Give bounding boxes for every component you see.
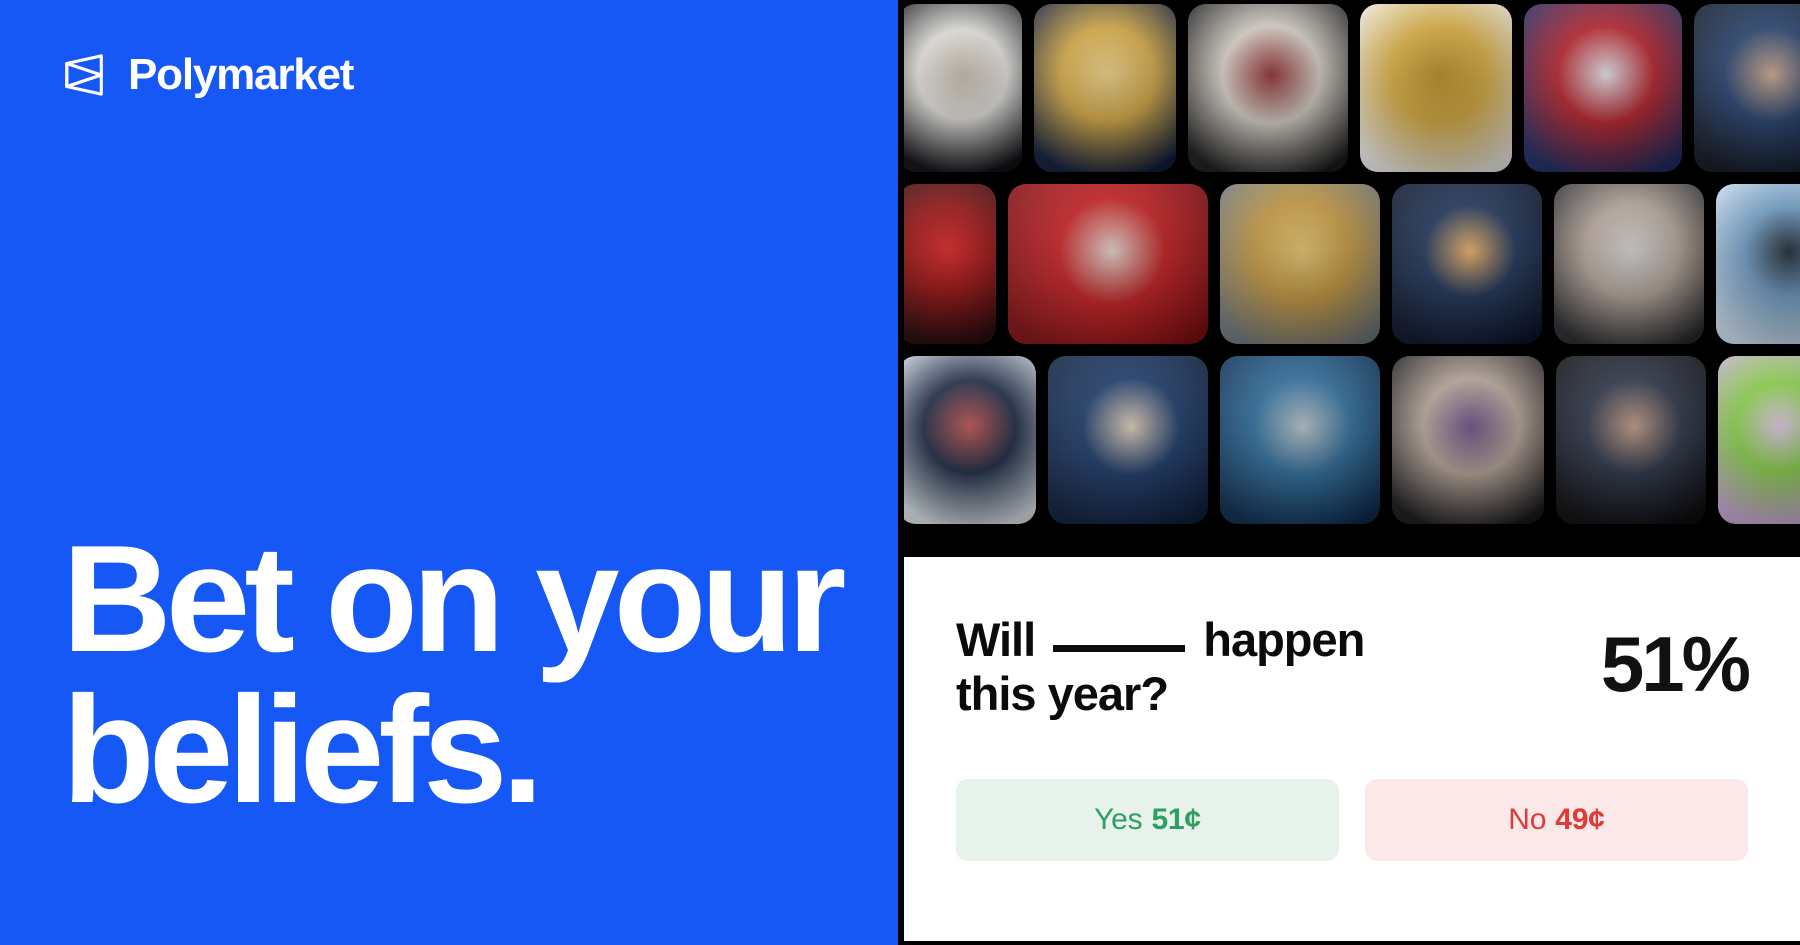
market-image-mosaic	[898, 0, 1800, 557]
elon-musk-portrait-photo	[1556, 356, 1706, 524]
mosaic-row	[898, 356, 1800, 524]
red-press-conference-photo	[898, 184, 996, 344]
vaccine-vials-syringe-photo	[1716, 184, 1800, 344]
market-question-blank	[1053, 618, 1185, 652]
mosaic-tile[interactable]	[1008, 184, 1208, 344]
market-question: Will happen this year?	[956, 613, 1364, 721]
mosaic-tile[interactable]	[1694, 4, 1800, 172]
missiles-night-sky-photo	[1392, 184, 1542, 344]
mosaic-tile[interactable]	[898, 184, 996, 344]
market-question-line-2: this year?	[956, 667, 1168, 720]
kamala-harris-rally-podium-photo	[1524, 4, 1682, 172]
outcome-yes-button[interactable]: Yes51¢	[956, 779, 1339, 861]
mosaic-tile[interactable]	[1556, 356, 1706, 524]
outcome-no-button[interactable]: No49¢	[1365, 779, 1748, 861]
travis-kelce-taylor-swift-photo	[1188, 4, 1348, 172]
hero-headline: Bet on your beliefs.	[62, 524, 882, 825]
polymarket-logo-icon	[62, 52, 108, 98]
mosaic-tile[interactable]	[1554, 184, 1704, 344]
joe-biden-waving-photo	[1694, 4, 1800, 172]
outcome-yes-label: Yes	[1094, 803, 1142, 837]
mosaic-row	[898, 4, 1800, 172]
hero-headline-line-1: Bet on your	[62, 524, 882, 674]
market-card: Will happen this year? 51% Yes51¢No49¢	[904, 557, 1800, 941]
market-question-prefix: Will	[956, 613, 1035, 666]
epstein-files-document-photo	[898, 4, 1022, 172]
mosaic-tile[interactable]	[1392, 184, 1542, 344]
mosaic-tile[interactable]	[898, 356, 1036, 524]
market-card-header: Will happen this year? 51%	[956, 613, 1748, 721]
market-outcome-buttons: Yes51¢No49¢	[956, 779, 1748, 861]
nobel-prize-medal-in-hand-photo	[1220, 184, 1380, 344]
panel-divider	[898, 0, 904, 945]
mosaic-tile[interactable]	[1524, 4, 1682, 172]
market-question-suffix: happen	[1203, 613, 1364, 666]
mosaic-row	[898, 184, 1800, 344]
mosaic-tile[interactable]	[1220, 356, 1380, 524]
mosaic-tile[interactable]	[898, 4, 1022, 172]
bitcoin-gold-coin-photo	[1034, 4, 1176, 172]
papal-conclave-cardinals-photo	[1008, 184, 1208, 344]
trump-harris-debate-handshake-photo	[1048, 356, 1208, 524]
joe-biden-looking-down-photo	[898, 356, 1036, 524]
brand-panel: Polymarket Bet on your beliefs.	[0, 0, 898, 945]
virus-microscopy-photo	[1718, 356, 1800, 524]
mosaic-tile[interactable]	[1392, 356, 1544, 524]
jerome-powell-adjusting-glasses-photo	[1392, 356, 1544, 524]
mosaic-tile[interactable]	[1048, 356, 1208, 524]
marketing-hero-screenshot: Polymarket Bet on your beliefs. Will hap…	[0, 0, 1800, 945]
right-column: Will happen this year? 51% Yes51¢No49¢	[898, 0, 1800, 945]
outcome-no-price: 49¢	[1555, 803, 1604, 837]
market-probability: 51%	[1601, 613, 1748, 703]
mosaic-tile[interactable]	[1034, 4, 1176, 172]
outcome-yes-price: 51¢	[1151, 803, 1200, 837]
nba-championship-trophy-photo	[1360, 4, 1512, 172]
outcome-no-label: No	[1508, 803, 1546, 837]
titan-submersible-underwater-photo	[1220, 356, 1380, 524]
mosaic-tile[interactable]	[1716, 184, 1800, 344]
brand-lockup[interactable]: Polymarket	[62, 52, 353, 98]
mosaic-tile[interactable]	[1220, 184, 1380, 344]
mosaic-tile[interactable]	[1360, 4, 1512, 172]
brand-wordmark: Polymarket	[128, 53, 353, 97]
mosaic-tile[interactable]	[1188, 4, 1348, 172]
hero-headline-line-2: beliefs.	[62, 675, 882, 825]
mosaic-tile[interactable]	[1718, 356, 1800, 524]
vlad-tenev-press-microphones-photo	[1554, 184, 1704, 344]
